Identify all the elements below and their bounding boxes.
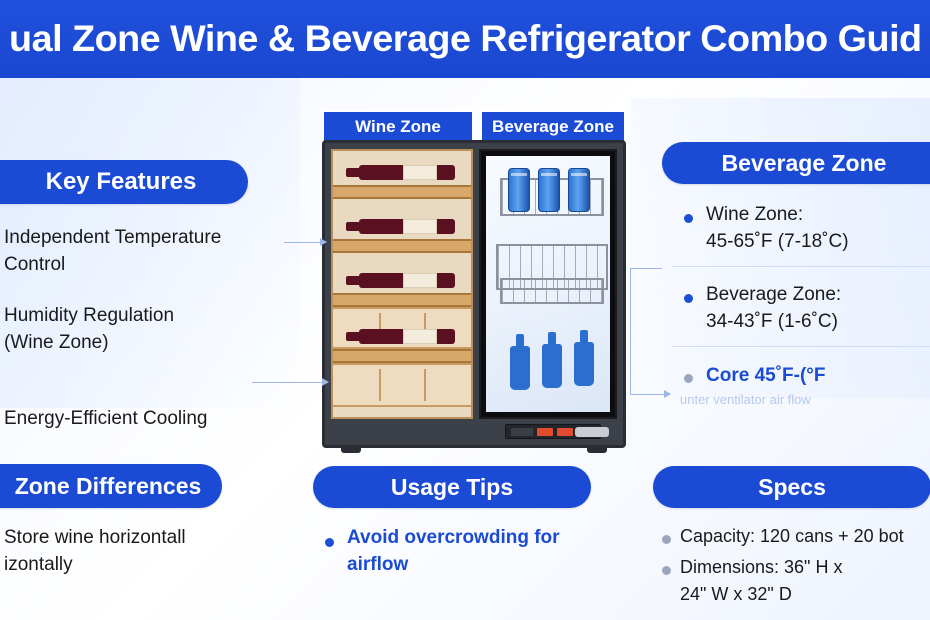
zone-chip-beverage-label: Beverage Zone: [492, 117, 614, 137]
wine-bottle-neck: [346, 168, 360, 177]
wine-bottle: [359, 329, 455, 344]
usage-tips-item-0: Avoid overcrowding for airflow: [347, 524, 617, 578]
beverage-zone-item-1: Beverage Zone: 34-43˚F (1-6˚C): [706, 281, 930, 335]
bullet-dot-icon: [662, 535, 671, 544]
wine-bottle: [359, 273, 455, 288]
usage-tips-heading-label: Usage Tips: [391, 474, 513, 501]
refrigerator-interior: [331, 149, 617, 419]
wine-bottle-label: [403, 165, 437, 180]
wine-compartment: [331, 149, 473, 419]
fridge-foot: [587, 445, 607, 453]
page-title: ual Zone Wine & Beverage Refrigerator Co…: [9, 18, 922, 60]
key-features-heading-label: Key Features: [46, 168, 197, 196]
temperature-led: [537, 428, 553, 436]
bullet-dot-icon: [684, 214, 693, 223]
key-features-item-0: Independent Temperature Control: [4, 224, 294, 278]
beverage-can: [538, 168, 560, 212]
wine-shelf: [333, 349, 471, 363]
wine-bottle-label: [403, 273, 437, 288]
beverage-zone-ghost-text: unter ventilator air flow: [680, 392, 811, 407]
beverage-compartment: [479, 149, 617, 419]
beverage-zone-item-2: Core 45˚F-(°F: [706, 362, 930, 389]
zone-differences-heading-label: Zone Differences: [15, 473, 202, 500]
key-features-item-2: Energy-Efficient Cooling: [4, 405, 294, 432]
zone-chip-beverage: Beverage Zone: [480, 110, 626, 143]
specs-item-1: Dimensions: 36" H x 24" W x 32" D: [680, 554, 930, 608]
beverage-bottle: [574, 342, 594, 386]
temperature-led: [557, 428, 573, 436]
wine-bottle-neck: [346, 276, 360, 285]
connector-line: [630, 268, 631, 394]
wine-shelf: [333, 185, 471, 199]
connector-line: [630, 268, 662, 269]
panel-heading-beverage-zone: Beverage Zone: [662, 142, 930, 184]
wine-bottle-neck: [346, 222, 360, 231]
wine-bottle: [359, 165, 455, 180]
bullet-dot-icon: [662, 566, 671, 575]
wire-basket: [500, 278, 604, 304]
fridge-foot: [341, 445, 361, 453]
beverage-bottle: [542, 344, 562, 388]
wine-bottle-neck: [346, 332, 360, 341]
zone-chip-wine: Wine Zone: [322, 110, 474, 143]
beverage-can: [508, 168, 530, 212]
wine-shelf: [333, 293, 471, 307]
divider: [672, 346, 930, 347]
panel-heading-usage-tips: Usage Tips: [313, 466, 591, 508]
beverage-bottle: [510, 346, 530, 390]
specs-heading-label: Specs: [758, 474, 826, 501]
wine-bottle-label: [403, 329, 437, 344]
connector-arrow-icon: [664, 390, 671, 398]
key-features-item-1: Humidity Regulation (Wine Zone): [4, 302, 294, 356]
panel-heading-specs: Specs: [653, 466, 930, 508]
zone-differences-item-0: Store wine horizontall izontally: [4, 524, 284, 578]
connector-arrow-icon: [322, 378, 329, 386]
beverage-can: [568, 168, 590, 212]
wine-shelf: [333, 239, 471, 253]
beverage-zone-item-0: Wine Zone: 45-65˚F (7-18˚C): [706, 201, 930, 255]
zone-chip-wine-label: Wine Zone: [355, 117, 441, 137]
panel-heading-zone-differences: Zone Differences: [0, 464, 222, 508]
wine-bottle: [359, 219, 455, 234]
infographic-page: ual Zone Wine & Beverage Refrigerator Co…: [0, 0, 930, 620]
connector-line: [252, 382, 328, 383]
wine-bottle-label: [403, 219, 437, 234]
display-screen: [511, 428, 533, 436]
glass-door: [486, 156, 610, 412]
panel-heading-key-features: Key Features: [0, 160, 248, 204]
specs-item-0: Capacity: 120 cans + 20 bot: [680, 523, 930, 550]
bullet-dot-icon: [684, 294, 693, 303]
bullet-dot-icon: [325, 538, 334, 547]
divider: [672, 266, 930, 267]
page-title-bar: ual Zone Wine & Beverage Refrigerator Co…: [0, 0, 930, 78]
door-handle[interactable]: [575, 427, 609, 437]
beverage-zone-heading-label: Beverage Zone: [722, 150, 887, 177]
bullet-dot-icon: [684, 374, 693, 383]
wine-rack-empty: [333, 363, 471, 407]
refrigerator-illustration: [322, 140, 626, 448]
connector-arrow-icon: [320, 238, 327, 246]
